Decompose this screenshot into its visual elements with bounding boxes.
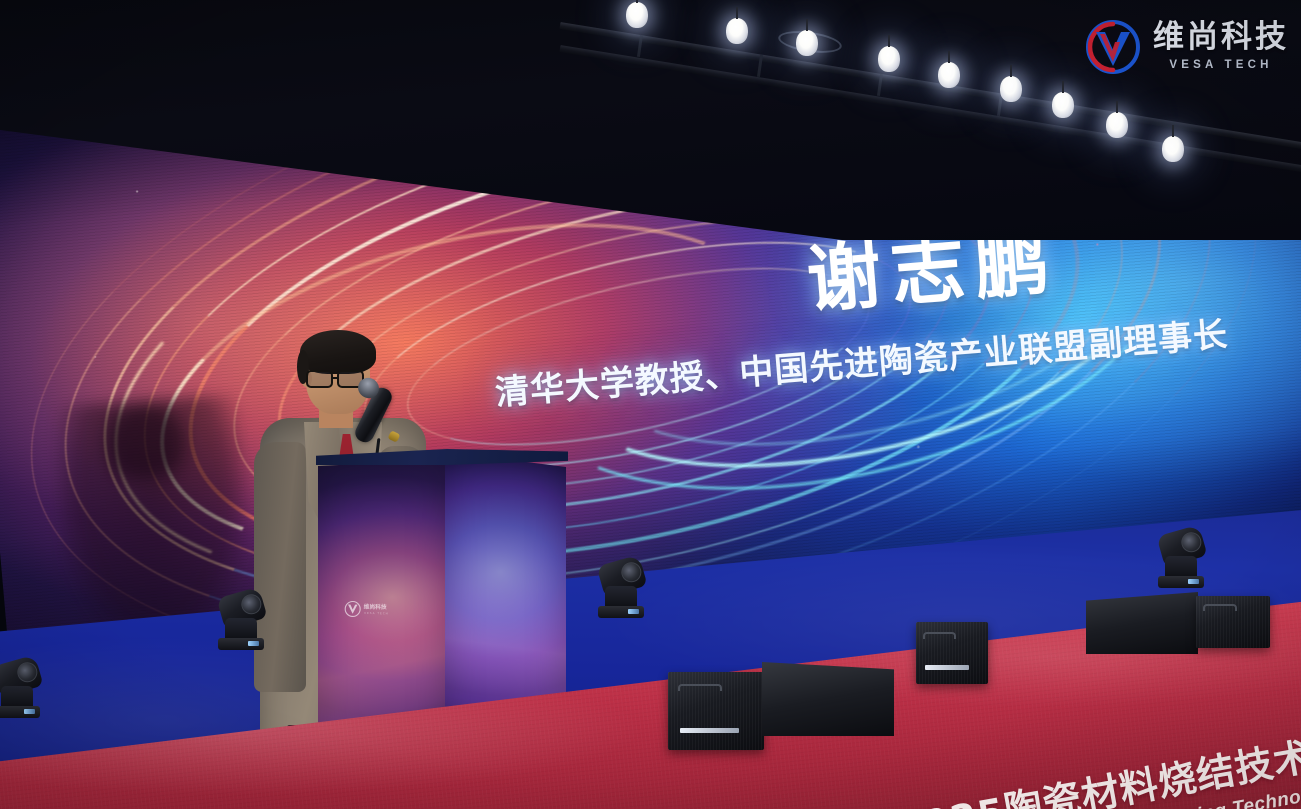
moving-head-light-left	[218, 592, 264, 650]
ceiling-spotlight	[1106, 112, 1128, 138]
brand-watermark: 维尚科技 VESA TECH	[1084, 18, 1289, 76]
svg-text:维尚科技: 维尚科技	[364, 603, 387, 611]
ceiling-spotlight	[938, 62, 960, 88]
ceiling-spotlight	[726, 18, 748, 44]
stage-monitor-right	[1086, 592, 1198, 654]
svg-text:VESA TECH: VESA TECH	[364, 611, 389, 615]
stage-monitor-wedge	[762, 662, 894, 736]
presenter-hair	[300, 330, 376, 374]
ceiling-spotlight	[878, 46, 900, 72]
moving-head-light-right	[1158, 530, 1204, 588]
brand-name-en: VESA TECH	[1153, 60, 1289, 72]
stage-monitor-far-right	[1196, 596, 1270, 648]
brand-name-cn: 维尚科技	[1153, 22, 1289, 53]
ceiling-spotlight	[1000, 76, 1022, 102]
conference-stage-photo: 谢志鹏 清华大学教授、中国先进陶瓷产业联盟副理事长	[0, 0, 1301, 809]
stage-monitor-left	[668, 672, 764, 750]
podium-logo-left-icon: 维尚科技 VESA TECH	[344, 600, 395, 619]
ceiling-spotlight	[1052, 92, 1074, 118]
ceiling-spotlight	[626, 2, 648, 28]
v-circle-logo-icon	[1084, 18, 1142, 76]
moving-head-light-far-left	[0, 660, 40, 718]
ceiling-spotlight	[796, 30, 818, 56]
stage-monitor-center	[916, 622, 988, 684]
ceiling-spotlight	[1162, 136, 1184, 162]
moving-head-light-center	[598, 560, 644, 618]
presenter-left-arm	[254, 442, 306, 692]
